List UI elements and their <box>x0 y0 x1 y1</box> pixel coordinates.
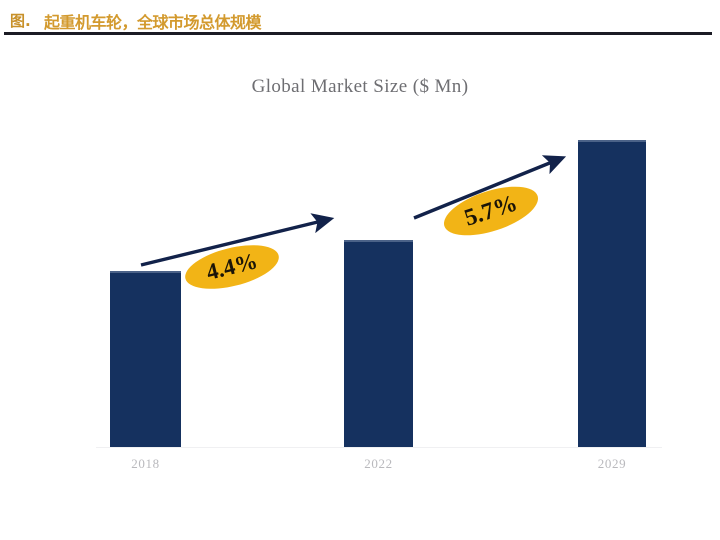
chart-container: Global Market Size ($ Mn) 2018 2022 2029 <box>0 36 720 540</box>
bar-2022[interactable] <box>344 240 413 447</box>
bar-2018[interactable] <box>110 271 181 447</box>
x-axis-line <box>96 447 662 448</box>
header-divider <box>4 32 712 35</box>
x-tick-label-2029: 2029 <box>578 456 646 472</box>
figure-label: 图. <box>10 10 31 31</box>
slide-canvas: 图. 起重机车轮，全球市场总体规模 Global Market Size ($ … <box>0 0 720 540</box>
cagr-callout-2018-2022[interactable]: 4.4% <box>181 237 283 297</box>
page-title: 起重机车轮，全球市场总体规模 <box>44 9 261 33</box>
plot-area: 2018 2022 2029 4.4% 5.7% <box>0 36 720 540</box>
x-tick-label-2022: 2022 <box>344 456 413 472</box>
cagr-callout-2022-2029[interactable]: 5.7% <box>438 177 544 245</box>
x-tick-label-2018: 2018 <box>110 456 181 472</box>
bar-2029[interactable] <box>578 140 646 447</box>
slide-header: 图. 起重机车轮，全球市场总体规模 <box>0 0 720 36</box>
